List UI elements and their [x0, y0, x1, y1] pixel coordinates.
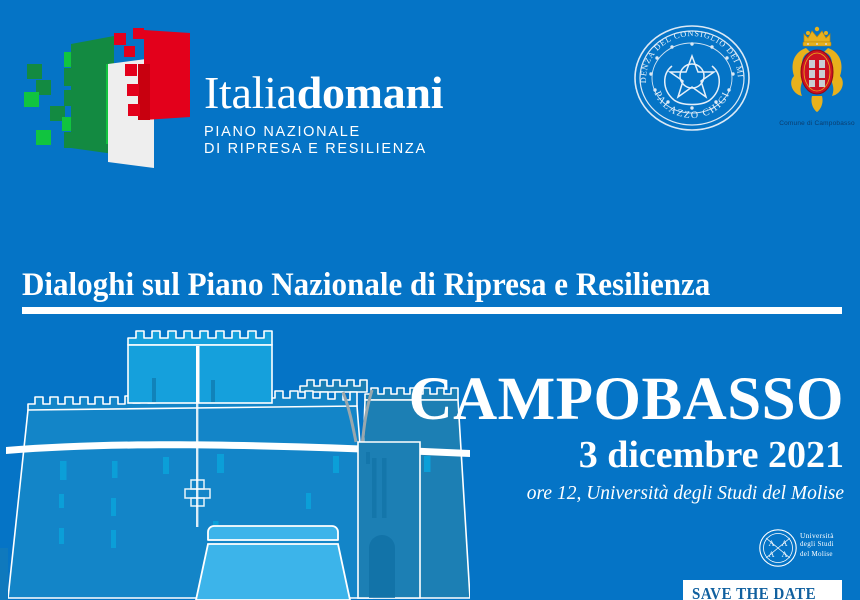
- title-underline-rule: [22, 307, 842, 314]
- svg-text:A: A: [769, 539, 775, 548]
- event-date: 3 dicembre 2021: [324, 434, 844, 476]
- chigi-ring-bottom-text: PALAZZO CHIGI: [652, 90, 733, 122]
- wordmark-title: Italiadomani: [204, 70, 514, 116]
- subtitle-line-2: DI RIPRESA E RESILIENZA: [204, 141, 514, 158]
- svg-text:A: A: [769, 550, 775, 559]
- wordmark: Italiadomani PIANO NAZIONALE DI RIPRESA …: [204, 70, 514, 157]
- unimol-line-1: Università: [800, 531, 834, 540]
- wordmark-subtitle: PIANO NAZIONALE DI RIPRESA E RESILIENZA: [204, 124, 514, 157]
- wordmark-bold: domani: [297, 67, 443, 118]
- event-city: CAMPOBASSO: [324, 368, 844, 432]
- unimol-seal-icon: AA AA: [758, 528, 798, 568]
- headline-block: Dialoghi sul Piano Nazionale di Ripresa …: [22, 268, 842, 314]
- svg-text:A: A: [782, 539, 788, 548]
- svg-text:A: A: [782, 550, 788, 559]
- campobasso-coat-of-arms-icon: [784, 24, 850, 120]
- presidenza-consiglio-ministri-emblem: PRESIDENZA DEL CONSIGLIO DEI MINISTRI PA…: [632, 22, 752, 134]
- save-the-date-badge: SAVE THE DATE: [683, 580, 842, 600]
- unimol-line-2: degli Studi: [800, 540, 834, 549]
- comune-di-campobasso-crest: Comune di Campobasso: [784, 24, 850, 144]
- event-details: CAMPOBASSO 3 dicembre 2021 ore 12, Unive…: [324, 368, 844, 506]
- universita-degli-studi-del-molise-logo: AA AA Università degli Studi del Molise: [758, 528, 854, 572]
- unimol-wordmark: Università degli Studi del Molise: [800, 531, 834, 559]
- comune-crest-caption: Comune di Campobasso: [772, 120, 860, 127]
- chigi-ring-top-text: PRESIDENZA DEL CONSIGLIO DEI MINISTRI: [632, 22, 745, 83]
- poster-canvas: Italiadomani PIANO NAZIONALE DI RIPRESA …: [0, 0, 860, 600]
- unimol-line-3: del Molise: [800, 550, 834, 559]
- italiadomani-logo: Italiadomani PIANO NAZIONALE DI RIPRESA …: [14, 22, 514, 172]
- event-place: ore 12, Università degli Studi del Molis…: [324, 482, 844, 506]
- save-the-date-label: SAVE THE DATE: [692, 584, 816, 600]
- wordmark-light: Italia: [204, 67, 297, 118]
- page-title: Dialoghi sul Piano Nazionale di Ripresa …: [22, 268, 805, 302]
- pixelated-italian-flag-icon: [14, 22, 204, 172]
- subtitle-line-1: PIANO NAZIONALE: [204, 124, 514, 141]
